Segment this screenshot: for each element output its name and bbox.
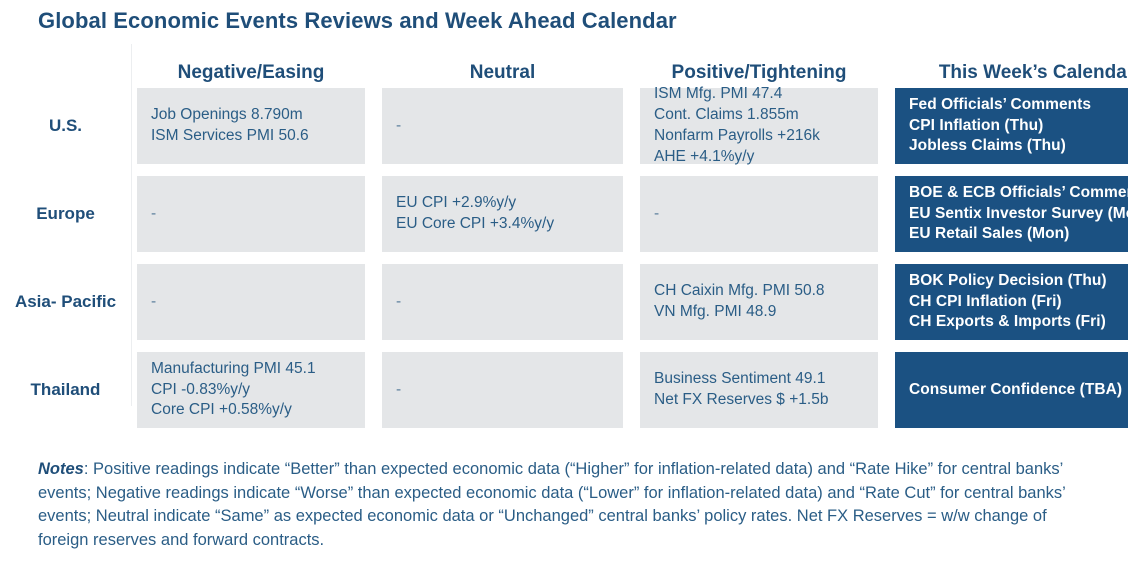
header-cell-calendar: This Week’s Calendar [884,62,1128,88]
header-cell-negative: Negative/Easing [131,62,371,88]
row-label-cell: Asia- Pacific [0,264,131,340]
row-spacer [0,340,1128,352]
header-label-negative: Negative/Easing [178,62,325,84]
cell-thailand-neutral: - [382,352,623,428]
cell-us-positive: ISM Mfg. PMI 47.4 Cont. Claims 1.855m No… [640,88,878,164]
cell-us-neutral: - [382,88,623,164]
row-label-us: U.S. [49,116,82,137]
cell-wrap-positive: CH Caixin Mfg. PMI 50.8 VN Mfg. PMI 48.9 [629,264,884,340]
row-label-cell: Europe [0,176,131,252]
cell-thailand-calendar: Consumer Confidence (TBA) [895,352,1128,428]
cell-wrap-negative: Manufacturing PMI 45.1 CPI -0.83%y/y Cor… [131,352,371,428]
cell-wrap-calendar: BOE & ECB Officials’ Comments EU Sentix … [884,176,1128,252]
cell-thailand-negative: Manufacturing PMI 45.1 CPI -0.83%y/y Cor… [137,352,365,428]
cell-wrap-calendar: Consumer Confidence (TBA) [884,352,1128,428]
cell-thailand-positive: Business Sentiment 49.1 Net FX Reserves … [640,352,878,428]
cell-wrap-neutral: - [371,88,629,164]
cell-us-calendar: Fed Officials’ Comments CPI Inflation (T… [895,88,1128,164]
cell-europe-neutral: EU CPI +2.9%y/y EU Core CPI +3.4%y/y [382,176,623,252]
cell-wrap-calendar: Fed Officials’ Comments CPI Inflation (T… [884,88,1128,164]
cell-us-negative: Job Openings 8.790m ISM Services PMI 50.… [137,88,365,164]
cell-wrap-positive: - [629,176,884,252]
row-label-cell: U.S. [0,88,131,164]
cell-wrap-neutral: EU CPI +2.9%y/y EU Core CPI +3.4%y/y [371,176,629,252]
cell-asia-calendar: BOK Policy Decision (Thu) CH CPI Inflati… [895,264,1128,340]
cell-asia-negative: - [137,264,365,340]
header-label-neutral: Neutral [470,62,535,84]
events-table: Negative/Easing Neutral Positive/Tighten… [0,44,1128,428]
header-label-positive: Positive/Tightening [672,62,847,84]
cell-europe-calendar: BOE & ECB Officials’ Comments EU Sentix … [895,176,1128,252]
table-row: Europe - EU CPI +2.9%y/y EU Core CPI +3.… [0,176,1128,252]
row-spacer [0,252,1128,264]
row-label-asia-pacific: Asia- Pacific [15,292,116,313]
cell-asia-positive: CH Caixin Mfg. PMI 50.8 VN Mfg. PMI 48.9 [640,264,878,340]
row-label-thailand: Thailand [31,380,101,401]
cell-wrap-positive: Business Sentiment 49.1 Net FX Reserves … [629,352,884,428]
cell-wrap-neutral: - [371,352,629,428]
cell-europe-negative: - [137,176,365,252]
header-cell-neutral: Neutral [371,62,629,88]
row-label-europe: Europe [36,204,95,225]
cell-europe-positive: - [640,176,878,252]
table-row: U.S. Job Openings 8.790m ISM Services PM… [0,88,1128,164]
notes-body: : Positive readings indicate “Better” th… [38,460,1065,549]
cell-wrap-neutral: - [371,264,629,340]
header-label-calendar: This Week’s Calendar [939,62,1128,84]
notes-label: Notes [38,460,84,478]
page-title: Global Economic Events Reviews and Week … [38,8,677,34]
row-spacer [0,164,1128,176]
cell-wrap-positive: ISM Mfg. PMI 47.4 Cont. Claims 1.855m No… [629,88,884,164]
table-header-row: Negative/Easing Neutral Positive/Tighten… [0,44,1128,88]
cell-wrap-negative: - [131,264,371,340]
cell-asia-neutral: - [382,264,623,340]
notes-block: Notes: Positive readings indicate “Bette… [38,458,1098,552]
cell-wrap-negative: Job Openings 8.790m ISM Services PMI 50.… [131,88,371,164]
table-row: Thailand Manufacturing PMI 45.1 CPI -0.8… [0,352,1128,428]
row-label-cell: Thailand [0,352,131,428]
table-row: Asia- Pacific - - CH Caixin Mfg. PMI 50.… [0,264,1128,340]
page-root: Global Economic Events Reviews and Week … [0,0,1128,564]
cell-wrap-negative: - [131,176,371,252]
cell-wrap-calendar: BOK Policy Decision (Thu) CH CPI Inflati… [884,264,1128,340]
